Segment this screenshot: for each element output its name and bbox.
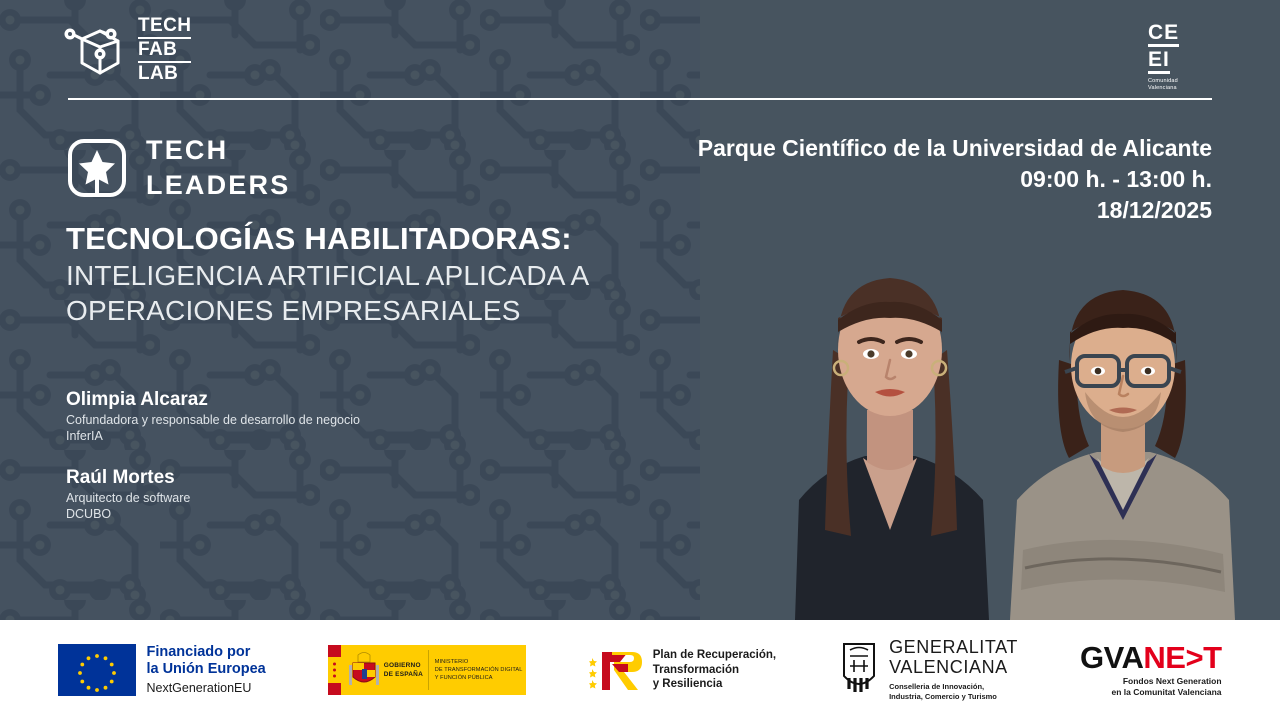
generalitat-subtitle: Conselleria de Innovación, Industria, Co… bbox=[889, 682, 1018, 702]
tech-leaders-brand: TECH LEADERS bbox=[66, 133, 290, 202]
techfablab-wordmark: TECH FAB LAB bbox=[138, 16, 191, 84]
generalitat-text: GENERALITAT VALENCIANA Conselleria de In… bbox=[889, 638, 1018, 702]
gobierno-line1: GOBIERNO bbox=[384, 662, 423, 671]
speaker-role: Arquitecto de software bbox=[66, 490, 486, 506]
gvanext-part-red: NE>T bbox=[1143, 640, 1221, 675]
prtr-line2: Transformación bbox=[653, 663, 776, 677]
prtr-line1: Plan de Recuperación, bbox=[653, 648, 776, 662]
spain-flag-stripe-icon bbox=[328, 645, 341, 695]
eu-line3: NextGenerationEU bbox=[146, 681, 265, 696]
speaker-photo-raul-mortes bbox=[985, 220, 1260, 620]
gobierno-espana-banner: GOBIERNO DE ESPAÑA MINISTERIO DE TRANSFO… bbox=[328, 645, 526, 695]
techfablab-line3: LAB bbox=[138, 64, 191, 84]
ministerio-line2: DE TRANSFORMACIÓN DIGITAL bbox=[435, 666, 523, 674]
gobierno-espana-logo: GOBIERNO DE ESPAÑA MINISTERIO DE TRANSFO… bbox=[328, 645, 526, 695]
title-line3: OPERACIONES EMPRESARIALES bbox=[66, 295, 726, 328]
generalitat-line2: VALENCIANA bbox=[889, 658, 1018, 678]
techfablab-line1: TECH bbox=[138, 16, 191, 36]
gobierno-espana-text: GOBIERNO DE ESPAÑA bbox=[384, 662, 423, 680]
gvanext-wordmark: GVANE>T bbox=[1080, 642, 1222, 673]
gobierno-line2: DE ESPAÑA bbox=[384, 671, 423, 680]
eu-line1: Financiado por bbox=[146, 644, 265, 661]
gvanext-text: GVANE>T Fondos Next Generation en la Com… bbox=[1080, 642, 1222, 699]
eu-flag-icon bbox=[58, 644, 136, 696]
speaker-name: Olimpia Alcaraz bbox=[66, 388, 486, 412]
gvanext-subtitle: Fondos Next Generation en la Comunitat V… bbox=[1080, 676, 1222, 699]
speaker-entry: Raúl Mortes Arquitecto de software DCUBO bbox=[66, 466, 486, 522]
prtr-logo: Plan de Recuperación, Transformación y R… bbox=[588, 646, 776, 694]
gvanext-part-black: GVA bbox=[1080, 640, 1143, 675]
tech-leaders-wordmark: TECH LEADERS bbox=[146, 133, 290, 202]
tech-leaders-line1: TECH bbox=[146, 133, 290, 168]
gvanext-logo: GVANE>T Fondos Next Generation en la Com… bbox=[1080, 642, 1222, 699]
conselleria-line1: Conselleria de Innovación, bbox=[889, 682, 1018, 692]
techfablab-line2: FAB bbox=[138, 37, 191, 63]
gobierno-separator bbox=[428, 650, 429, 690]
event-poster: TECH FAB LAB CE EI Comunidad Valenciana bbox=[0, 0, 1280, 720]
speaker-organization: InferIA bbox=[66, 428, 486, 444]
footer-logos: Financiado por la Unión Europea NextGene… bbox=[0, 620, 1280, 720]
speaker-role: Cofundadora y responsable de desarrollo … bbox=[66, 412, 486, 428]
gvanext-sub-line1: Fondos Next Generation bbox=[1080, 676, 1222, 687]
prtr-text: Plan de Recuperación, Transformación y R… bbox=[653, 648, 776, 691]
star-leaf-icon bbox=[66, 137, 128, 199]
generalitat-line1: GENERALITAT bbox=[889, 638, 1018, 658]
eu-funding-text: Financiado por la Unión Europea NextGene… bbox=[146, 644, 265, 696]
tech-leaders-line2: LEADERS bbox=[146, 168, 290, 203]
generalitat-shield-icon bbox=[838, 642, 880, 698]
conselleria-line2: Industria, Comercio y Turismo bbox=[889, 692, 1018, 702]
ministerio-line1: MINISTERIO bbox=[435, 658, 523, 666]
speaker-photos bbox=[695, 60, 1280, 620]
eu-funding-logo: Financiado por la Unión Europea NextGene… bbox=[58, 644, 265, 696]
title-line1: TECNOLOGÍAS HABILITADORAS: bbox=[66, 222, 726, 257]
speaker-entry: Olimpia Alcaraz Cofundadora y responsabl… bbox=[66, 388, 486, 444]
prtr-line3: y Resiliencia bbox=[653, 677, 776, 691]
speaker-organization: DCUBO bbox=[66, 506, 486, 522]
cube-circuit-icon bbox=[62, 21, 126, 79]
hero-section: TECH FAB LAB CE EI Comunidad Valenciana bbox=[0, 0, 1280, 620]
ministerio-line3: Y FUNCIÓN PÚBLICA bbox=[435, 674, 523, 682]
ceei-row1: CE bbox=[1148, 22, 1179, 47]
gvanext-sub-line2: en la Comunitat Valenciana bbox=[1080, 687, 1222, 698]
ministerio-text: MINISTERIO DE TRANSFORMACIÓN DIGITAL Y F… bbox=[435, 658, 523, 682]
prtr-emblem-icon bbox=[588, 646, 644, 694]
speakers-list: Olimpia Alcaraz Cofundadora y responsabl… bbox=[66, 388, 486, 523]
speaker-name: Raúl Mortes bbox=[66, 466, 486, 490]
spain-coat-of-arms-icon bbox=[347, 651, 381, 689]
title-line2: INTELIGENCIA ARTIFICIAL APLICADA A bbox=[66, 260, 726, 293]
eu-line2: la Unión Europea bbox=[146, 661, 265, 678]
page-title: TECNOLOGÍAS HABILITADORAS: INTELIGENCIA … bbox=[66, 222, 726, 328]
techfablab-logo[interactable]: TECH FAB LAB bbox=[62, 16, 191, 84]
generalitat-valenciana-logo: GENERALITAT VALENCIANA Conselleria de In… bbox=[838, 638, 1018, 702]
